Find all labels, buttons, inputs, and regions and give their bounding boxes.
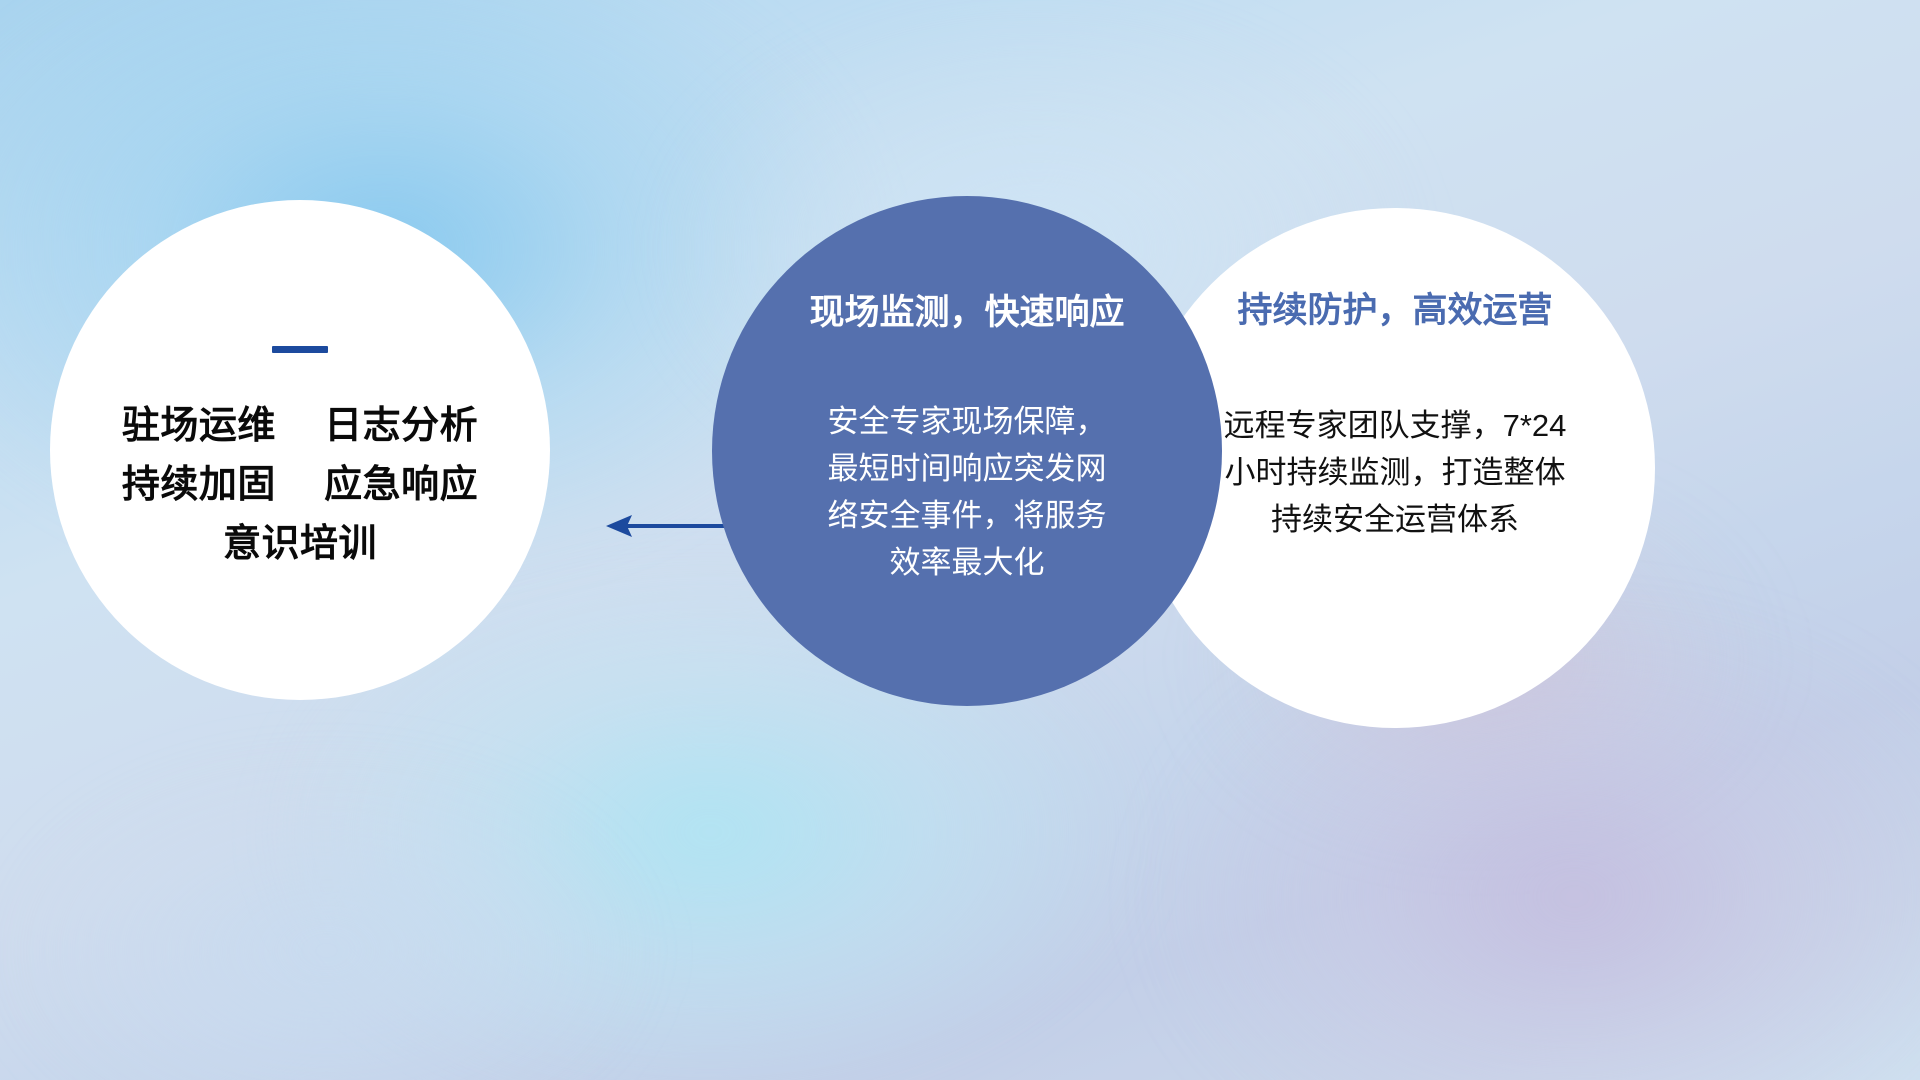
- slide-canvas: 驻场运维 日志分析 持续加固 应急响应 意识培训 持续防护，高效运营 远程专家团…: [0, 0, 1920, 1080]
- onsite-monitoring-circle: 现场监测，快速响应 安全专家现场保障， 最短时间响应突发网 络安全事件，将服务 …: [712, 196, 1222, 706]
- capability-row-1: 驻场运维 日志分析: [122, 397, 478, 456]
- accent-rule-icon: [272, 346, 328, 353]
- capability-list-circle: 驻场运维 日志分析 持续加固 应急响应 意识培训: [50, 200, 550, 700]
- capability-label: 日志分析: [324, 405, 478, 447]
- continuous-protection-title: 持续防护，高效运营: [1237, 290, 1552, 332]
- capability-row-3: 意识培训: [223, 515, 377, 574]
- continuous-protection-body: 远程专家团队支撑，7*24 小时持续监测，打造整体 持续安全运营体系: [1195, 402, 1595, 543]
- onsite-monitoring-title: 现场监测，快速响应: [809, 292, 1124, 334]
- onsite-monitoring-body: 安全专家现场保障， 最短时间响应突发网 络安全事件，将服务 效率最大化: [802, 398, 1132, 586]
- background-glow-bottom-left: [0, 756, 653, 1080]
- capability-row-2: 持续加固 应急响应: [122, 456, 478, 515]
- capability-label: 持续加固: [122, 464, 276, 506]
- capability-label: 应急响应: [324, 464, 478, 506]
- capability-label: 驻场运维: [122, 405, 276, 447]
- capability-label: 意识培训: [223, 523, 377, 565]
